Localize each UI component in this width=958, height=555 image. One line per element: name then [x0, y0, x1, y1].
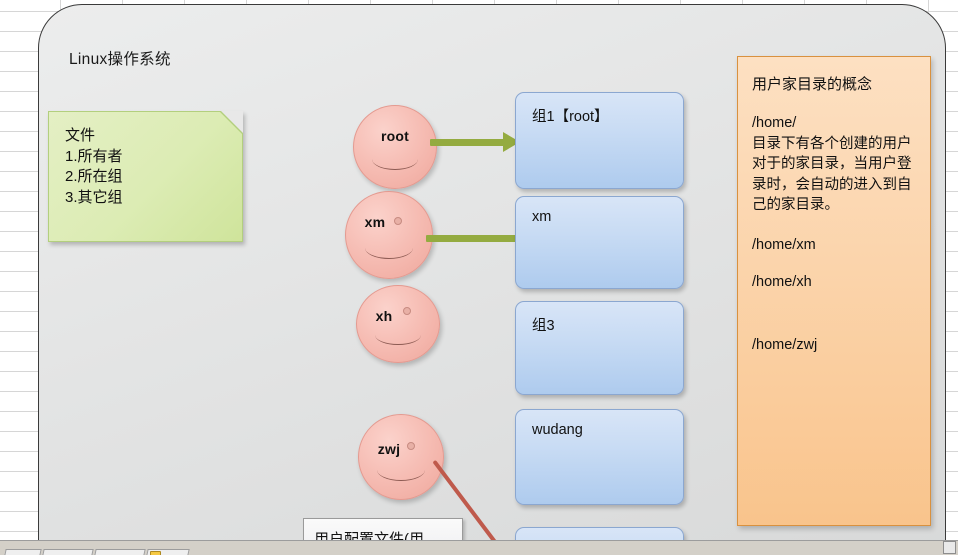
home-panel-description: 目录下有各个创建的用户对于的家目录，当用户登录时，会自动的进入到自己的家目录。: [752, 134, 918, 216]
file-note-line-0: 文件: [65, 126, 242, 147]
home-panel-path-xh: /home/xh: [752, 272, 918, 293]
file-note-shape: 文件 1.所有者 2.所在组 3.其它组: [48, 111, 243, 242]
user-face-xm-label: xm: [332, 214, 418, 230]
group-box-4-label: wudang: [516, 410, 683, 438]
resize-corner-handle[interactable]: [943, 541, 956, 554]
smiley-mouth-icon: [365, 237, 413, 259]
group-box-5-label: [516, 528, 683, 540]
home-panel-path-root: /home/: [752, 113, 918, 134]
smiley-mouth-icon: [372, 149, 418, 170]
group-box-1-label: 组1【root】: [516, 93, 683, 126]
arrow-root-to-group1-icon: [430, 139, 504, 146]
user-face-root-label: root: [354, 128, 436, 144]
file-note-body: 文件 1.所有者 2.所在组 3.其它组: [49, 112, 242, 209]
file-note-line-3: 3.其它组: [65, 188, 242, 209]
group-box-2-label: xm: [516, 197, 683, 225]
group-box-3[interactable]: 组3: [515, 301, 684, 395]
smiley-mouth-icon: [375, 326, 421, 346]
user-face-xm[interactable]: xm: [345, 191, 433, 279]
user-face-zwj-label: zwj: [347, 441, 431, 457]
group-box-2[interactable]: xm: [515, 196, 684, 289]
user-face-xh-label: xh: [343, 308, 425, 324]
group-box-1[interactable]: 组1【root】: [515, 92, 684, 189]
spacer: [752, 94, 918, 113]
user-face-zwj[interactable]: zwj: [358, 414, 444, 500]
spacer: [752, 255, 918, 272]
slide-canvas: Linux操作系统 文件 1.所有者 2.所在组 3.其它组 root xm x…: [0, 0, 958, 555]
smiley-eye-icon: [407, 442, 415, 450]
group-box-3-label: 组3: [516, 302, 683, 335]
sheet-tab-1[interactable]: [2, 549, 41, 555]
home-panel-path-xm: /home/xm: [752, 235, 918, 256]
spacer: [752, 293, 918, 335]
home-panel-title: 用户家目录的概念: [752, 73, 918, 94]
home-directory-panel: 用户家目录的概念 /home/ 目录下有各个创建的用户对于的家目录，当用户登录时…: [737, 56, 931, 526]
file-note-line-1: 1.所有者: [65, 147, 242, 168]
page-title: Linux操作系统: [69, 47, 171, 69]
sheet-tab-2[interactable]: [40, 549, 93, 555]
smiley-mouth-icon: [377, 459, 424, 481]
home-panel-path-zwj: /home/zwj: [752, 335, 918, 356]
spacer: [752, 216, 918, 235]
sheet-tab-3[interactable]: [92, 549, 145, 555]
user-face-root[interactable]: root: [353, 105, 437, 189]
sheet-tab-strip: [0, 540, 958, 555]
group-box-4[interactable]: wudang: [515, 409, 684, 505]
new-sheet-icon[interactable]: [150, 551, 161, 555]
arrow-xm-to-group2-icon: [426, 235, 516, 242]
file-note-line-2: 2.所在组: [65, 167, 242, 188]
user-face-xh[interactable]: xh: [356, 285, 440, 363]
